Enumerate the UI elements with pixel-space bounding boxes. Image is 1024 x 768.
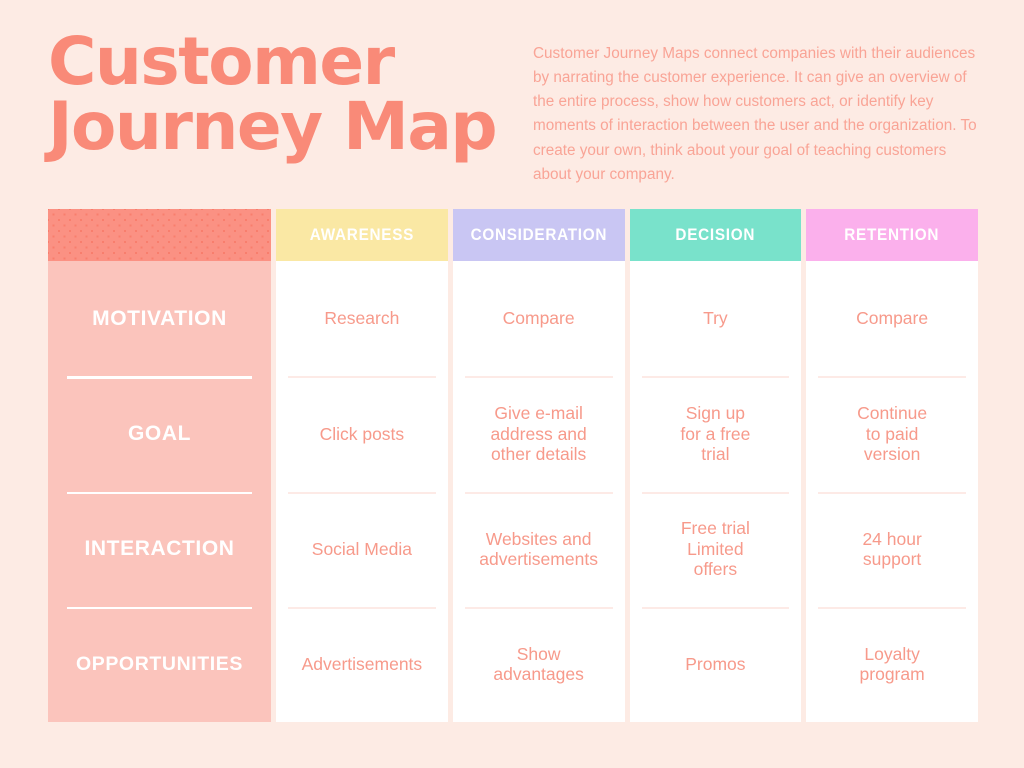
column-body-consideration: Compare Give e-mail address and other de… — [453, 261, 625, 722]
stage-column-retention: RETENTION Compare Continue to paid versi… — [806, 209, 978, 722]
column-header-consideration: CONSIDERATION — [453, 209, 625, 261]
intro-paragraph: Customer Journey Maps connect companies … — [533, 30, 984, 187]
stage-column-decision: DECISION Try Sign up for a free trial Fr… — [630, 209, 802, 722]
column-header-consideration-label: CONSIDERATION — [470, 225, 607, 245]
cell-consideration-opportunities: Show advantages — [453, 607, 625, 722]
stage-column-consideration: CONSIDERATION Compare Give e-mail addres… — [453, 209, 625, 722]
column-body-awareness: Research Click posts Social Media Advert… — [276, 261, 448, 722]
stage-column-awareness: AWARENESS Research Click posts Social Me… — [276, 209, 448, 722]
header-section: Customer Journey Map Customer Journey Ma… — [0, 0, 1024, 187]
cell-decision-motivation: Try — [630, 261, 802, 376]
column-header-retention: RETENTION — [806, 209, 978, 261]
row-label-opportunities: OPPORTUNITIES — [48, 607, 271, 722]
cell-awareness-motivation: Research — [276, 261, 448, 376]
column-header-decision-label: DECISION — [676, 225, 756, 245]
row-label-goal: GOAL — [48, 376, 271, 491]
title-line-1: Customer — [48, 30, 503, 95]
cell-awareness-opportunities: Advertisements — [276, 607, 448, 722]
column-header-awareness: AWARENESS — [276, 209, 448, 261]
page-title: Customer Journey Map — [48, 30, 503, 159]
cell-retention-motivation: Compare — [806, 261, 978, 376]
cell-decision-opportunities: Promos — [630, 607, 802, 722]
cell-consideration-goal: Give e-mail address and other details — [453, 376, 625, 491]
column-body-decision: Try Sign up for a free trial Free trial … — [630, 261, 802, 722]
column-body-retention: Compare Continue to paid version 24 hour… — [806, 261, 978, 722]
title-line-2: Journey Map — [48, 95, 503, 160]
title-block: Customer Journey Map — [48, 30, 503, 159]
cell-retention-interaction: 24 hour support — [806, 492, 978, 607]
cell-awareness-goal: Click posts — [276, 376, 448, 491]
stage-label-column: MOTIVATION GOAL INTERACTION OPPORTUNITIE… — [48, 209, 271, 722]
column-header-awareness-label: AWARENESS — [310, 225, 414, 245]
cell-consideration-interaction: Websites and advertisements — [453, 492, 625, 607]
cell-decision-interaction: Free trial Limited offers — [630, 492, 802, 607]
row-label-motivation: MOTIVATION — [48, 261, 271, 376]
cell-awareness-interaction: Social Media — [276, 492, 448, 607]
cell-retention-opportunities: Loyalty program — [806, 607, 978, 722]
stage-label-list: MOTIVATION GOAL INTERACTION OPPORTUNITIE… — [48, 261, 271, 722]
cell-consideration-motivation: Compare — [453, 261, 625, 376]
column-header-decision: DECISION — [630, 209, 802, 261]
cell-decision-goal: Sign up for a free trial — [630, 376, 802, 491]
column-header-retention-label: RETENTION — [845, 225, 940, 245]
cell-retention-goal: Continue to paid version — [806, 376, 978, 491]
sidebar-textured-header — [48, 209, 271, 261]
row-label-interaction: INTERACTION — [48, 492, 271, 607]
journey-map-board: MOTIVATION GOAL INTERACTION OPPORTUNITIE… — [48, 209, 978, 722]
